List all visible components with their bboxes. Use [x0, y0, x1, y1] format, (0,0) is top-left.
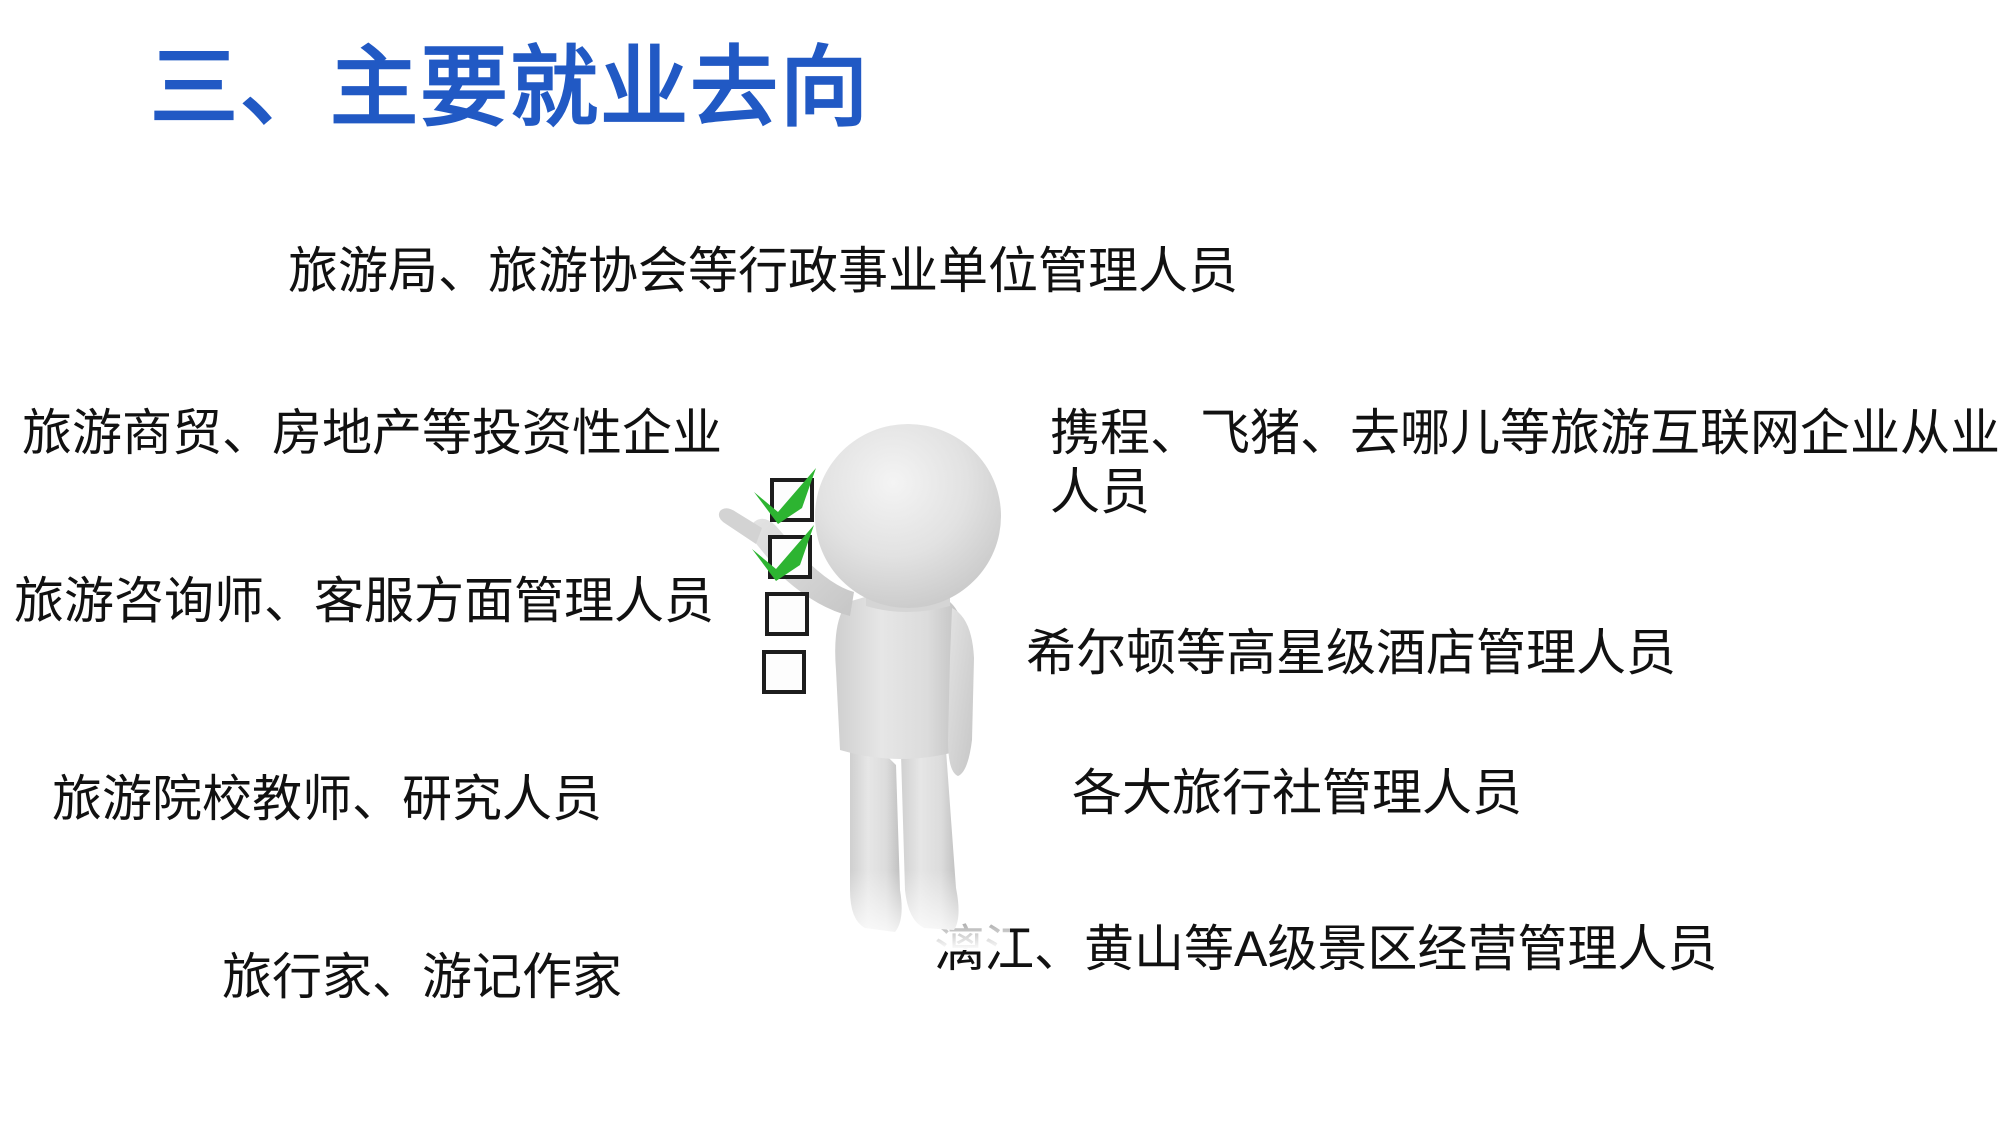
- checkmark-icon: [750, 523, 828, 589]
- career-item-left-3: 旅游院校教师、研究人员: [52, 770, 752, 829]
- career-item-header: 旅游局、旅游协会等行政事业单位管理人员: [288, 242, 1468, 301]
- career-item-right-1: 携程、飞猪、去哪儿等旅游互联网企业从业人员: [1050, 404, 2010, 522]
- person-figure-icon: [700, 420, 1070, 950]
- checklist-group: [762, 478, 822, 708]
- page-title: 三、主要就业去向: [150, 42, 870, 134]
- career-item-left-1: 旅游商贸、房地产等投资性企业: [22, 404, 742, 463]
- career-item-right-4: 漓江、黄山等A级景区经营管理人员: [934, 920, 1934, 979]
- slide-canvas: 三、主要就业去向 旅游局、旅游协会等行政事业单位管理人员 旅游商贸、房地产等投资…: [0, 0, 2010, 1125]
- checkbox-3-empty[interactable]: [765, 592, 809, 636]
- career-item-left-4: 旅行家、游记作家: [222, 948, 842, 1007]
- career-item-right-3: 各大旅行社管理人员: [1072, 764, 1772, 823]
- checkbox-2-checked[interactable]: [768, 535, 812, 579]
- career-item-right-2: 希尔顿等高星级酒店管理人员: [1026, 624, 1866, 683]
- checkbox-1-checked[interactable]: [770, 478, 814, 522]
- career-item-left-2: 旅游咨询师、客服方面管理人员: [14, 572, 734, 631]
- checkbox-4-empty[interactable]: [762, 650, 806, 694]
